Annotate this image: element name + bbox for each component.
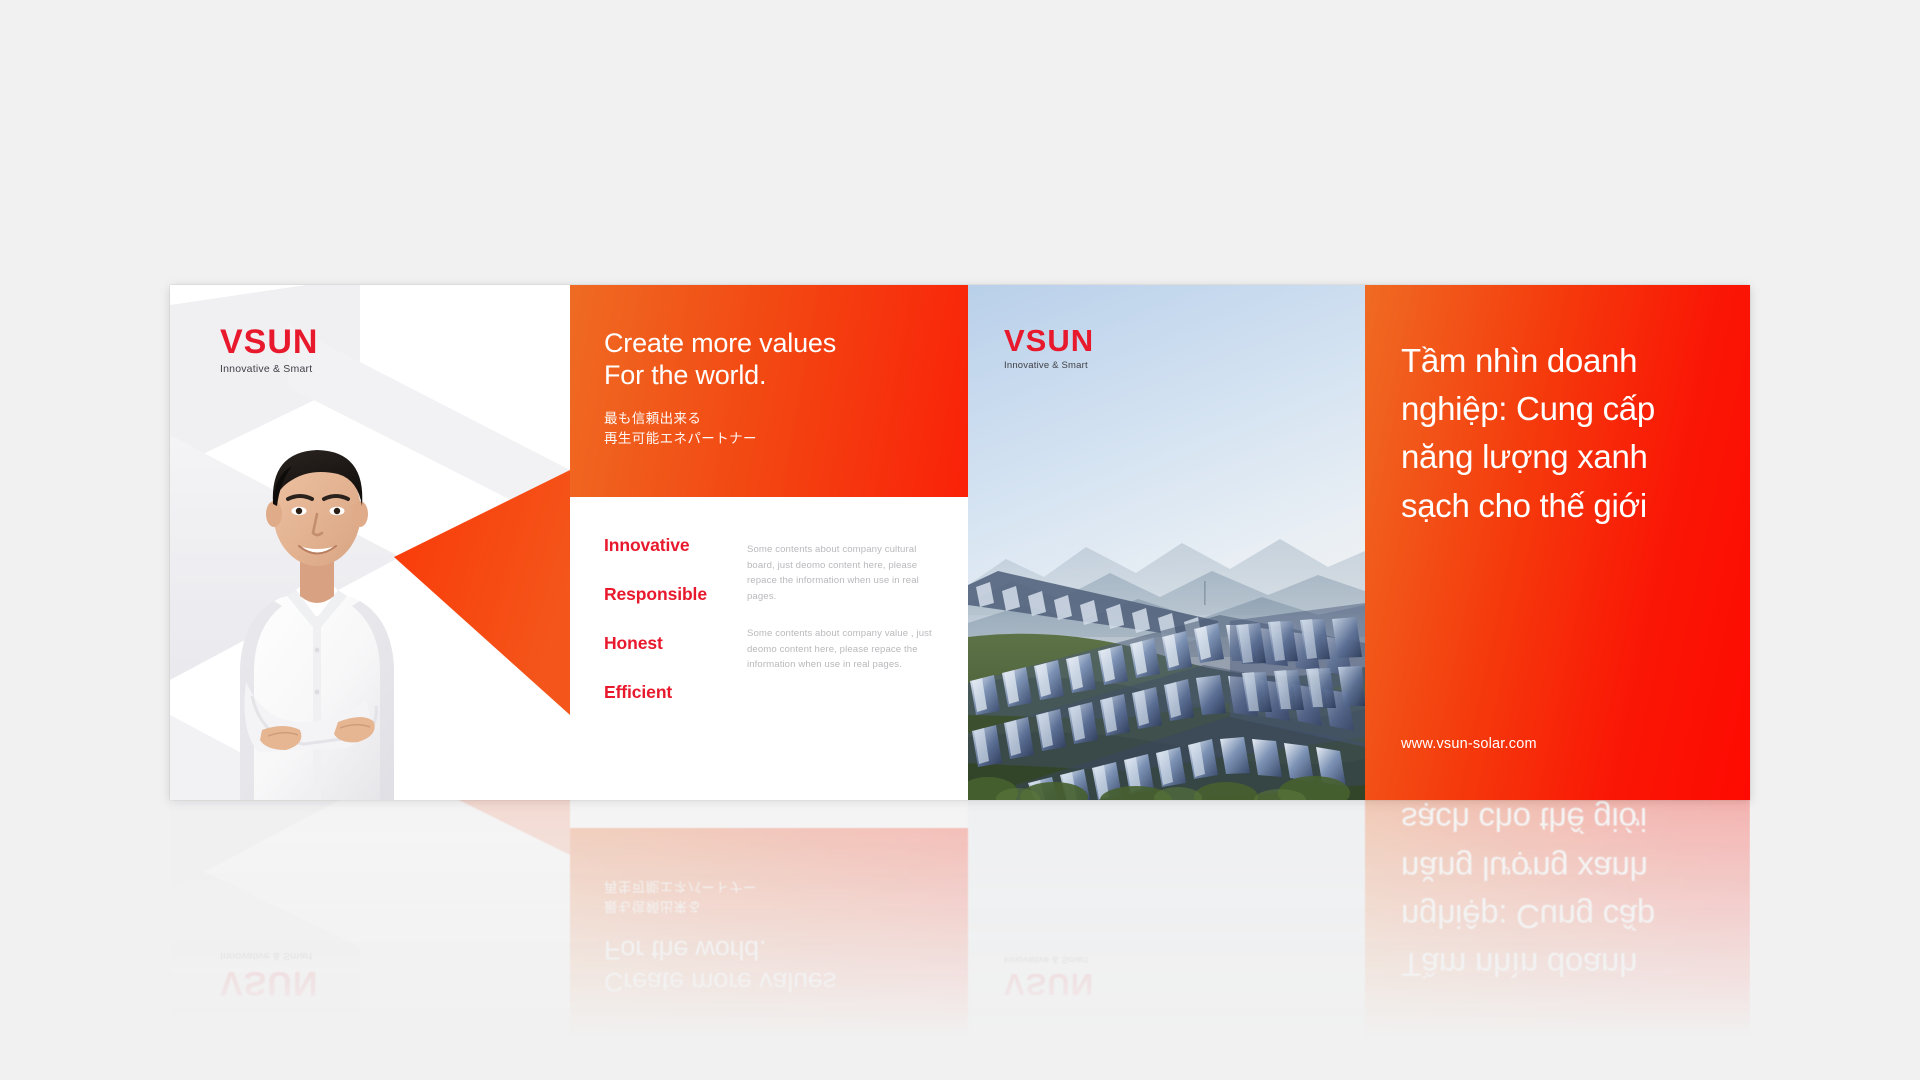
reflection-vsun-logo-left: VSUN Innovative & Smart [220,950,318,1000]
values-list: Innovative Responsible Honest Efficient [604,535,729,800]
paragraph-cultural-board: Some contents about company cultural boa… [747,542,946,604]
board-reflection-inner: VSUN Innovative & Smart Create more valu… [170,800,1750,1040]
vsun-wordmark: VSUN [220,325,318,359]
reflection-values-headline-line2: For the world. [604,933,934,965]
paragraph-company-value: Some contents about company value , just… [747,626,946,673]
values-subheadline-line2: 再生可能エネパートナー [604,429,934,449]
values-subheadline: 最も信頼出来る 再生可能エネパートナー [604,409,934,450]
vsun-tagline: Innovative & Smart [1004,360,1094,371]
vision-headline: Tầm nhìn doanh nghiệp: Cung cấp năng lượ… [1401,337,1712,530]
reflection-vsun-tagline: Innovative & Smart [1004,954,1094,965]
values-headline-line2: For the world. [604,359,934,391]
vsun-wordmark: VSUN [1004,325,1094,356]
panel-solar: VSUN Innovative & Smart [968,285,1365,800]
reflection-vision-headline: Tầm nhìn doanh nghiệp: Cung cấp năng lượ… [1401,800,1712,988]
reflection-vsun-tagline: Innovative & Smart [220,950,318,962]
reflection-panel-values: Create more values For the world. 最も信頼出来… [570,800,968,1040]
values-subheadline-line1: 最も信頼出来る [604,409,934,429]
vsun-logo-left: VSUN Innovative & Smart [220,325,318,375]
reflection-panel-solar: VSUN Innovative & Smart [968,800,1365,1040]
reflection-values-body: Innovative Responsible Honest Efficient … [570,800,968,828]
reflection-vsun-wordmark: VSUN [1004,969,1094,1000]
values-headline-line1: Create more values [604,327,934,359]
reflection-values-subheadline-line1: 最も信頼出来る [604,896,934,916]
reflection-vsun-wordmark: VSUN [220,966,318,1000]
value-item-efficient: Efficient [604,682,729,703]
reflection-vsun-logo-solar: VSUN Innovative & Smart [1004,954,1094,1000]
value-item-innovative: Innovative [604,535,729,556]
businessman-photo [188,400,448,800]
reflection-panel-vision: Tầm nhìn doanh nghiệp: Cung cấp năng lượ… [1365,800,1750,1040]
panel-portrait: VSUN Innovative & Smart [170,285,570,800]
reflection-values-hero: Create more values For the world. 最も信頼出来… [570,828,968,1040]
value-item-honest: Honest [604,633,729,654]
value-item-responsible: Responsible [604,584,729,605]
values-paragraphs: Some contents about company cultural boa… [747,535,946,800]
reflection-values-headline-line1: Create more values [604,966,934,998]
vsun-logo-solar: VSUN Innovative & Smart [1004,325,1094,371]
brochure-board: VSUN Innovative & Smart [170,285,1750,800]
panel-values: Create more values For the world. 最も信頼出来… [570,285,968,800]
values-headline: Create more values For the world. [604,327,934,392]
reflection-values-headline: Create more values For the world. [604,933,934,998]
values-hero: Create more values For the world. 最も信頼出来… [570,285,968,497]
poster-stage: VSUN Innovative & Smart [0,0,1920,1080]
reflection-panel-portrait: VSUN Innovative & Smart [170,800,570,1040]
reflection-chevron-shapes [170,800,570,1040]
board-reflection: VSUN Innovative & Smart Create more valu… [170,800,1750,1040]
values-body: Innovative Responsible Honest Efficient … [570,497,968,800]
vsun-tagline: Innovative & Smart [220,363,318,375]
panel-vision: Tầm nhìn doanh nghiệp: Cung cấp năng lượ… [1365,285,1750,800]
reflection-values-subheadline-line2: 再生可能エネパートナー [604,876,934,896]
website-url[interactable]: www.vsun-solar.com [1401,736,1537,752]
reflection-values-subheadline: 最も信頼出来る 再生可能エネパートナー [604,876,934,917]
reflection-solar-photo [968,800,1365,1040]
